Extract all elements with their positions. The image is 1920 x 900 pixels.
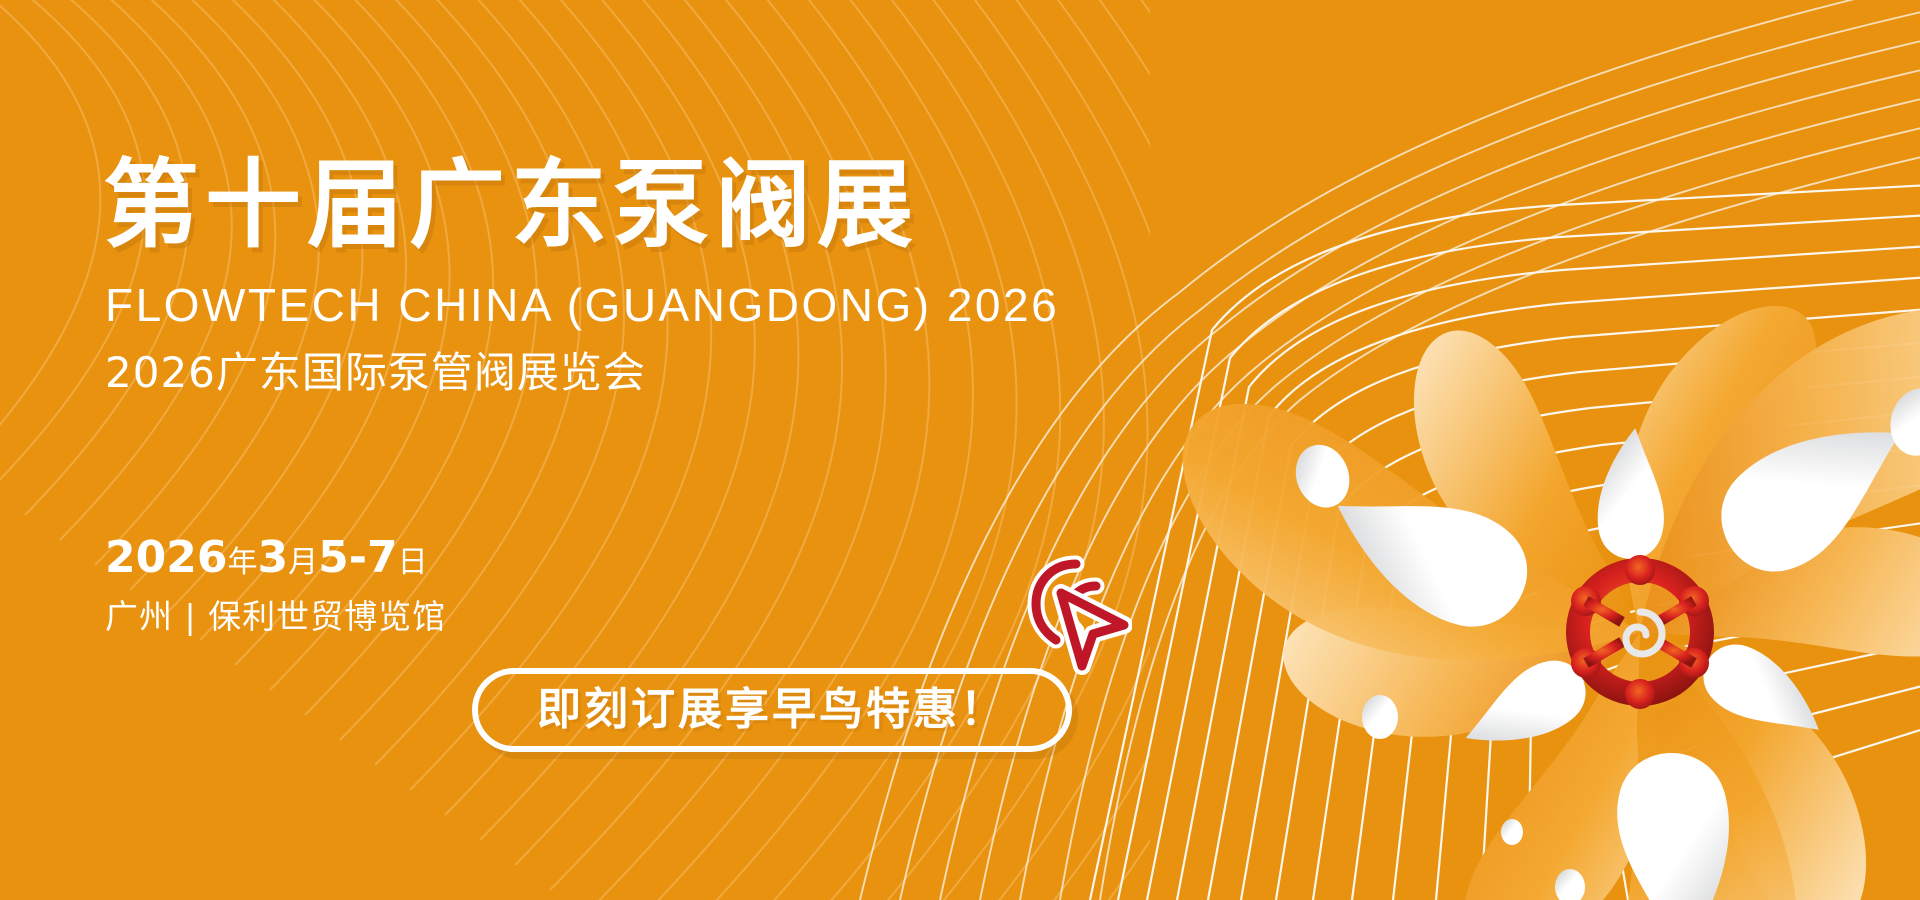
event-date: 2026年3月5-7日 — [105, 536, 428, 580]
early-bird-cta-button[interactable]: 即刻订展享早鸟特惠！ — [472, 668, 1072, 752]
water-droplet-icon — [1287, 382, 1920, 900]
title-english: FLOWTECH CHINA (GUANGDONG) 2026 — [105, 282, 1059, 328]
event-venue: 广州 | 保利世贸博览馆 — [105, 600, 446, 633]
date-year-unit: 年 — [227, 545, 257, 580]
page-title: 第十届广东泵阀展 — [103, 157, 919, 253]
mouse-pointer-click-icon — [1012, 546, 1132, 676]
title-chinese-subtitle: 2026广东国际泵管阀展览会 — [105, 352, 646, 394]
cta-label: 即刻订展享早鸟特惠！ — [537, 688, 1007, 732]
date-month: 3 — [257, 532, 288, 583]
date-days: 5-7 — [318, 532, 398, 583]
event-banner: 第十届广东泵阀展 FLOWTECH CHINA (GUANGDONG) 2026… — [0, 0, 1920, 900]
valve-handwheel-icon — [1571, 555, 1709, 709]
date-day-unit: 日 — [398, 545, 428, 580]
date-year: 2026 — [105, 532, 227, 583]
banner-content: 第十届广东泵阀展 FLOWTECH CHINA (GUANGDONG) 2026… — [0, 0, 1200, 900]
date-month-unit: 月 — [288, 545, 318, 580]
